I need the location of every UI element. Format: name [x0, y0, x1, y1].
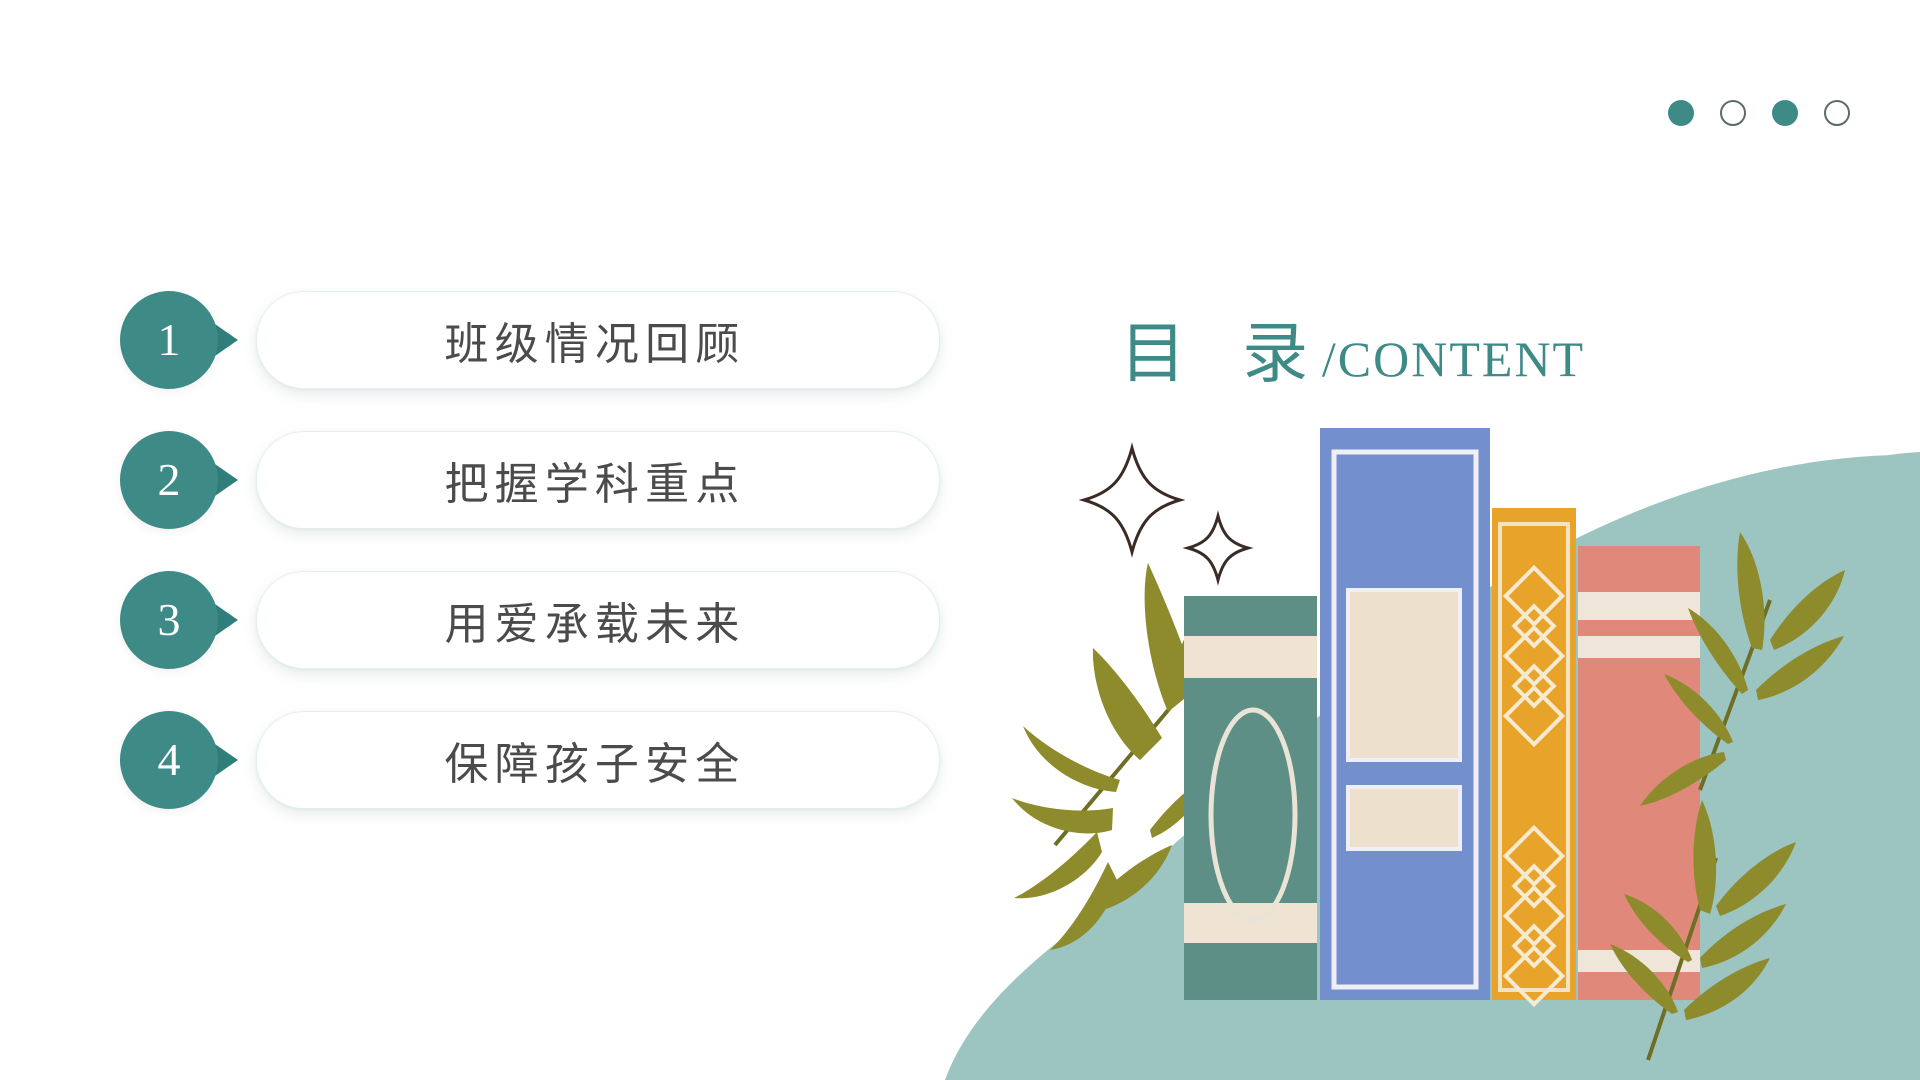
agenda-label-1: 班级情况回顾: [444, 308, 751, 372]
book-green: [1184, 596, 1317, 1000]
agenda-pill-2[interactable]: 把握学科重点: [256, 431, 940, 529]
agenda-item-4[interactable]: 4 保障孩子安全: [120, 710, 940, 810]
teal-backdrop-shape: [945, 455, 1920, 1080]
leaf-branch-left: [1012, 563, 1212, 950]
agenda-number-badge-2: 2: [120, 431, 218, 529]
page-title: 目 录 /CONTENT: [1120, 300, 1585, 396]
agenda-list: 1 班级情况回顾 2 把握学科重点 3 用爱承载未来 4 保障孩子安全: [120, 290, 940, 850]
agenda-label-3: 用爱承载未来: [444, 588, 751, 652]
pagination-dot-4[interactable]: [1824, 100, 1850, 126]
page-title-en: /CONTENT: [1322, 330, 1585, 388]
book-orange: [1492, 508, 1576, 1004]
sparkle-icon-large: [1084, 448, 1180, 552]
slide-root: 目 录 /CONTENT 1 班级情况回顾 2 把握学科重点 3 用爱承载未来: [0, 0, 1920, 1080]
agenda-item-2[interactable]: 2 把握学科重点: [120, 430, 940, 530]
book-coral: [1578, 546, 1700, 1000]
pagination-dot-3[interactable]: [1772, 100, 1798, 126]
book-blue: [1320, 428, 1490, 1000]
sparkle-icon-small: [1188, 516, 1248, 580]
agenda-item-3[interactable]: 3 用爱承载未来: [120, 570, 940, 670]
agenda-pill-3[interactable]: 用爱承载未来: [256, 571, 940, 669]
agenda-number-badge-3: 3: [120, 571, 218, 669]
pagination-dots[interactable]: [1668, 100, 1850, 126]
agenda-label-4: 保障孩子安全: [444, 728, 751, 792]
agenda-number-badge-4: 4: [120, 711, 218, 809]
agenda-pill-4[interactable]: 保障孩子安全: [256, 711, 940, 809]
agenda-label-2: 把握学科重点: [444, 448, 751, 512]
pagination-dot-1[interactable]: [1668, 100, 1694, 126]
page-title-cn: 目 录: [1120, 300, 1328, 396]
teal-backdrop-fill-right: [1410, 452, 1920, 1080]
leaf-branch-right-lower: [1610, 800, 1796, 1060]
agenda-pill-1[interactable]: 班级情况回顾: [256, 291, 940, 389]
leaf-branch-right-upper: [1640, 532, 1845, 806]
agenda-item-1[interactable]: 1 班级情况回顾: [120, 290, 940, 390]
agenda-number-badge-1: 1: [120, 291, 218, 389]
pagination-dot-2[interactable]: [1720, 100, 1746, 126]
